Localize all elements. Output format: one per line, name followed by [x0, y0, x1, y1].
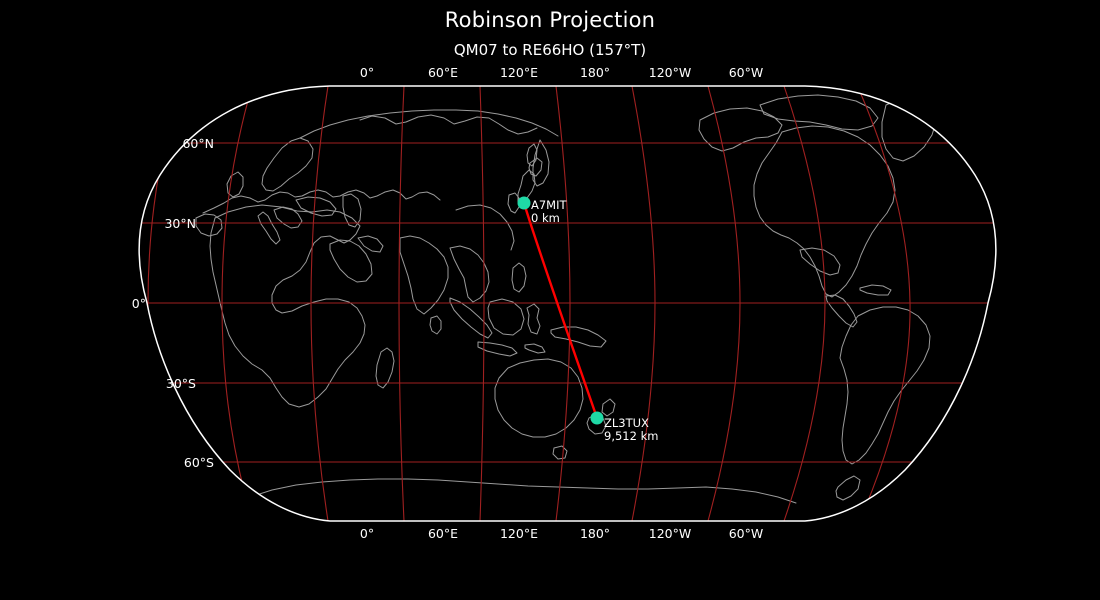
lon-label-bottom-0: 0° — [360, 526, 374, 541]
longitude-labels-top: 0° 60°E 120°E 180° 120°W 60°W — [360, 65, 763, 80]
marker-label-end-name: ZL3TUX — [604, 416, 649, 430]
marker-label-end-distance: 9,512 km — [604, 429, 658, 443]
lat-label-30S: 30°S — [166, 376, 196, 391]
marker-start-a7mit[interactable] — [518, 197, 531, 210]
lon-label-top-3: 180° — [580, 65, 610, 80]
lon-label-top-1: 60°E — [428, 65, 458, 80]
lon-label-top-4: 120°W — [649, 65, 691, 80]
lat-label-60S: 60°S — [184, 455, 214, 470]
lon-label-top-2: 120°E — [500, 65, 538, 80]
lon-label-bottom-5: 60°W — [729, 526, 764, 541]
lon-label-bottom-2: 120°E — [500, 526, 538, 541]
longitude-labels-bottom: 0° 60°E 120°E 180° 120°W 60°W — [360, 526, 763, 541]
lat-label-60N: 60°N — [182, 136, 214, 151]
lon-label-top-5: 60°W — [729, 65, 764, 80]
marker-label-start-distance: 0 km — [531, 211, 560, 225]
lon-label-bottom-4: 120°W — [649, 526, 691, 541]
marker-end-zl3tux[interactable] — [591, 412, 604, 425]
lat-label-0: 0° — [132, 296, 146, 311]
lat-label-30N: 30°N — [164, 216, 196, 231]
lon-label-bottom-1: 60°E — [428, 526, 458, 541]
robinson-map-canvas: A7MIT 0 km ZL3TUX 9,512 km 0° 60°E 120°E… — [0, 0, 1100, 600]
map-body — [130, 80, 1010, 530]
lon-label-top-0: 0° — [360, 65, 374, 80]
marker-label-start-name: A7MIT — [531, 198, 567, 212]
map-figure: Robinson Projection QM07 to RE66HO (157°… — [0, 0, 1100, 600]
lon-label-bottom-3: 180° — [580, 526, 610, 541]
